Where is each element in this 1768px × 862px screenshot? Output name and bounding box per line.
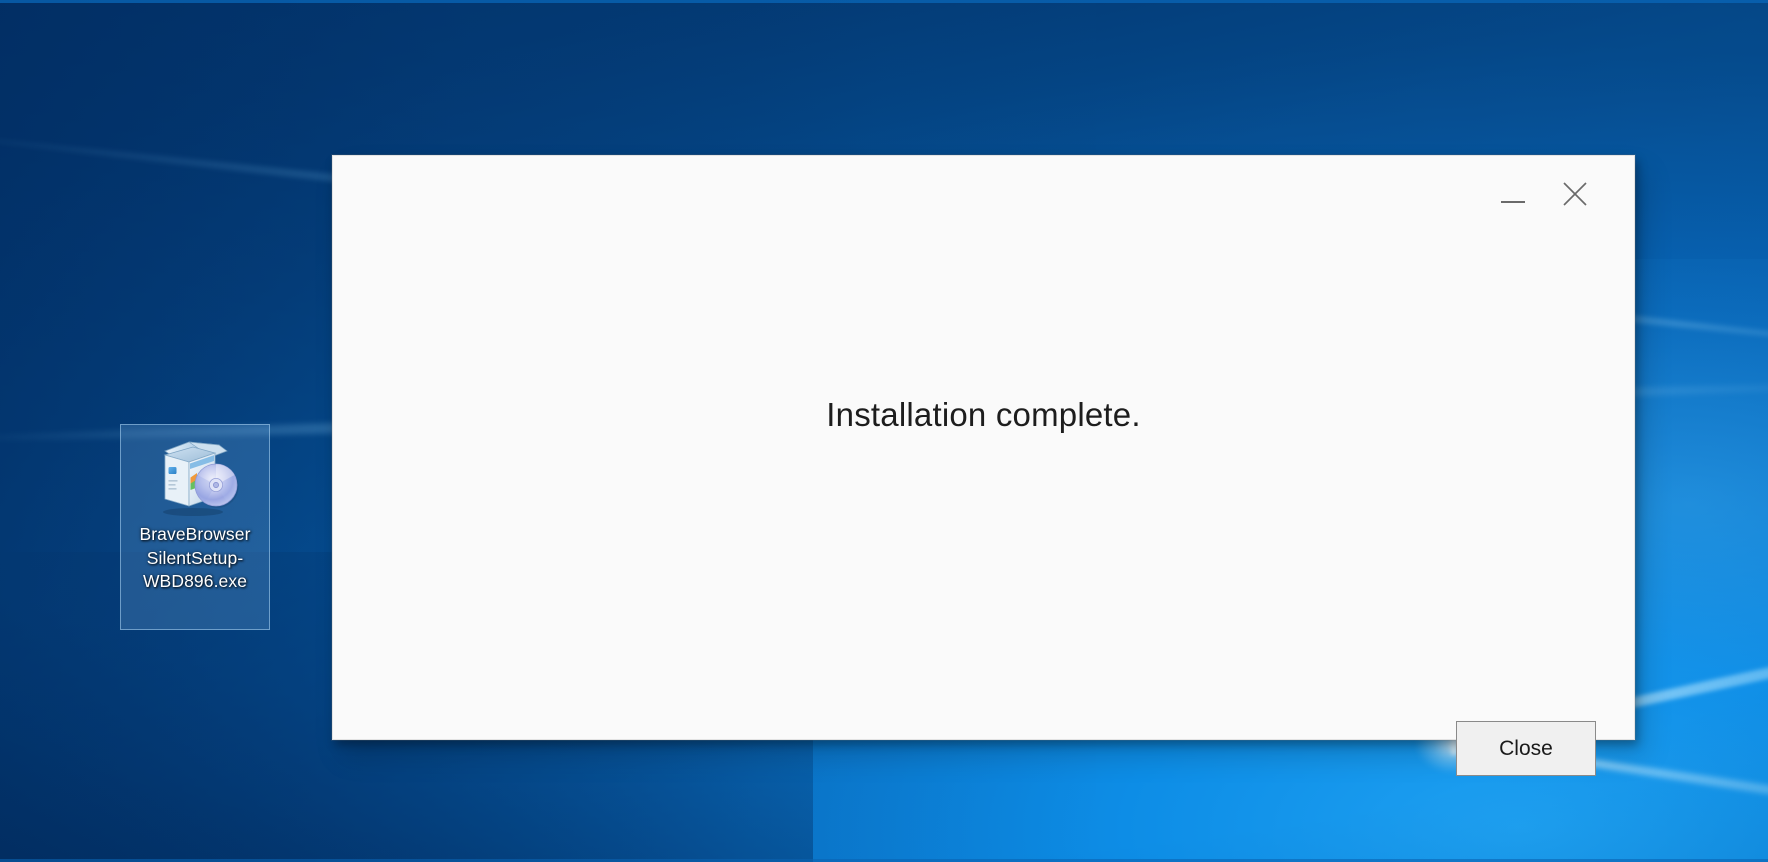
desktop-icon-brave-installer[interactable]: BraveBrowser SilentSetup- WBD896.exe: [120, 424, 270, 630]
minimize-icon: [1501, 201, 1525, 203]
minimize-button[interactable]: [1482, 178, 1544, 226]
installer-dialog-window[interactable]: Installation complete. Close: [332, 155, 1635, 740]
wallpaper-top-edge-line: [0, 0, 1768, 3]
setup-package-cd-icon: [149, 433, 241, 517]
desktop[interactable]: BraveBrowser SilentSetup- WBD896.exe Ins…: [0, 0, 1768, 862]
desktop-icon-label: BraveBrowser SilentSetup- WBD896.exe: [122, 523, 268, 594]
window-close-button[interactable]: [1544, 170, 1606, 218]
icon-label-line-3: WBD896.exe: [143, 571, 247, 591]
dialog-body: Installation complete. Close: [333, 226, 1634, 741]
icon-label-line-1: BraveBrowser: [139, 524, 250, 544]
icon-label-line-2: SilentSetup-: [147, 548, 244, 568]
close-button[interactable]: Close: [1456, 721, 1596, 776]
close-x-icon: [1562, 181, 1588, 207]
dialog-titlebar[interactable]: [333, 156, 1634, 226]
installation-status-message: Installation complete.: [333, 396, 1634, 434]
